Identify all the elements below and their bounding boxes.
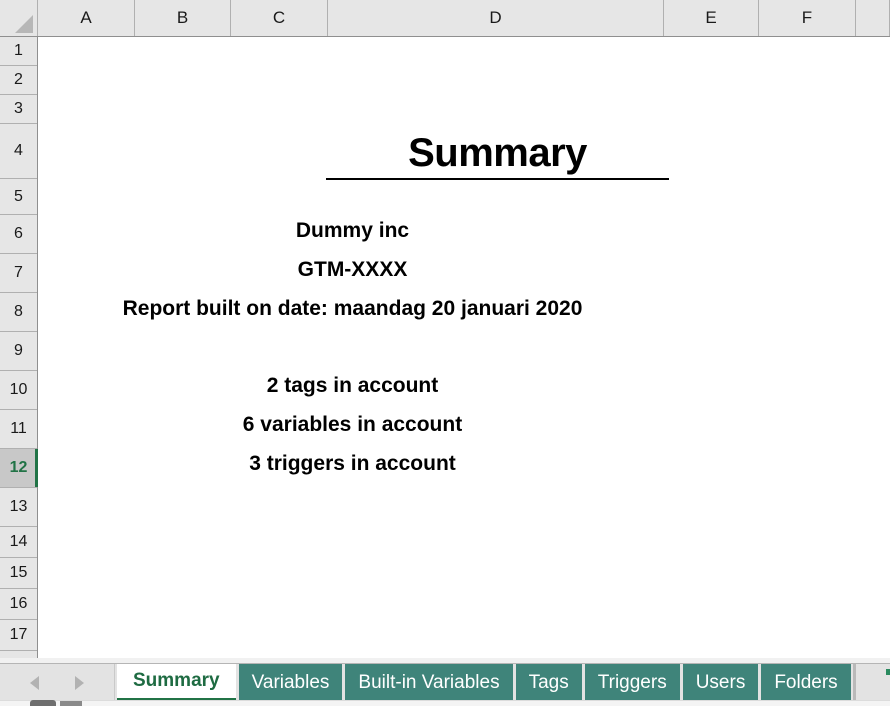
column-header-partial[interactable] (856, 0, 890, 36)
triangle-left-icon[interactable] (30, 676, 39, 690)
sheet-grid[interactable]: Summary Dummy inc GTM-XXXX Report built … (39, 37, 890, 706)
row-header-10[interactable]: 10 (0, 371, 37, 410)
sheet-tab-users[interactable]: Users (683, 664, 759, 701)
column-header-b[interactable]: B (135, 0, 231, 36)
select-all-button[interactable] (0, 0, 38, 36)
page-title: Summary (326, 132, 669, 174)
row-header-2[interactable]: 2 (0, 66, 37, 95)
row-header-13[interactable]: 13 (0, 488, 37, 527)
status-indicator-icon (30, 700, 56, 706)
row-header-17[interactable]: 17 (0, 620, 37, 651)
sheet-tab-summary[interactable]: Summary (117, 664, 236, 701)
row-header-9[interactable]: 9 (0, 332, 37, 371)
column-header-row: ABCDEF (0, 0, 890, 37)
sheet-tab-built-in-variables[interactable]: Built-in Variables (345, 664, 512, 701)
triggers-count-line: 3 triggers in account (39, 452, 666, 476)
status-bar (0, 700, 890, 706)
column-header-c[interactable]: C (231, 0, 328, 36)
tab-end-cap (853, 664, 856, 701)
sheet-tab-bar: SummaryVariablesBuilt-in VariablesTagsTr… (0, 658, 890, 706)
triangle-right-icon[interactable] (75, 676, 84, 690)
report-date: Report built on date: maandag 20 januari… (39, 297, 666, 321)
row-header-16[interactable]: 16 (0, 589, 37, 620)
accent-corner (886, 669, 890, 675)
row-header-7[interactable]: 7 (0, 254, 37, 293)
row-header-6[interactable]: 6 (0, 215, 37, 254)
column-header-d[interactable]: D (328, 0, 664, 36)
sheet-tab-tags[interactable]: Tags (516, 664, 582, 701)
variables-count-line: 6 variables in account (39, 413, 666, 437)
container-id: GTM-XXXX (39, 258, 666, 282)
sheet-tab-variables[interactable]: Variables (239, 664, 343, 701)
company-name: Dummy inc (39, 219, 666, 243)
status-indicator-icon-2 (60, 701, 82, 706)
sheet-tab-bar-inner: SummaryVariablesBuilt-in VariablesTagsTr… (0, 663, 890, 701)
row-header-11[interactable]: 11 (0, 410, 37, 449)
column-header-a[interactable]: A (38, 0, 135, 36)
row-header-1[interactable]: 1 (0, 37, 37, 66)
row-header-column: 123456789101112131415161718 (0, 37, 38, 706)
column-header-e[interactable]: E (664, 0, 759, 36)
sheet-tab-folders[interactable]: Folders (761, 664, 850, 701)
row-header-15[interactable]: 15 (0, 558, 37, 589)
row-header-12[interactable]: 12 (0, 449, 37, 488)
summary-title-cell: Summary (326, 132, 669, 180)
row-header-3[interactable]: 3 (0, 95, 37, 124)
sheet-nav-arrows (0, 664, 115, 701)
sheet-tab-triggers[interactable]: Triggers (585, 664, 680, 701)
select-all-triangle-icon (15, 15, 33, 33)
row-header-14[interactable]: 14 (0, 527, 37, 558)
tags-count-line: 2 tags in account (39, 374, 666, 398)
spreadsheet-window: ABCDEF 123456789101112131415161718 Summa… (0, 0, 890, 706)
column-header-f[interactable]: F (759, 0, 856, 36)
row-header-8[interactable]: 8 (0, 293, 37, 332)
row-header-5[interactable]: 5 (0, 179, 37, 215)
row-header-4[interactable]: 4 (0, 124, 37, 179)
